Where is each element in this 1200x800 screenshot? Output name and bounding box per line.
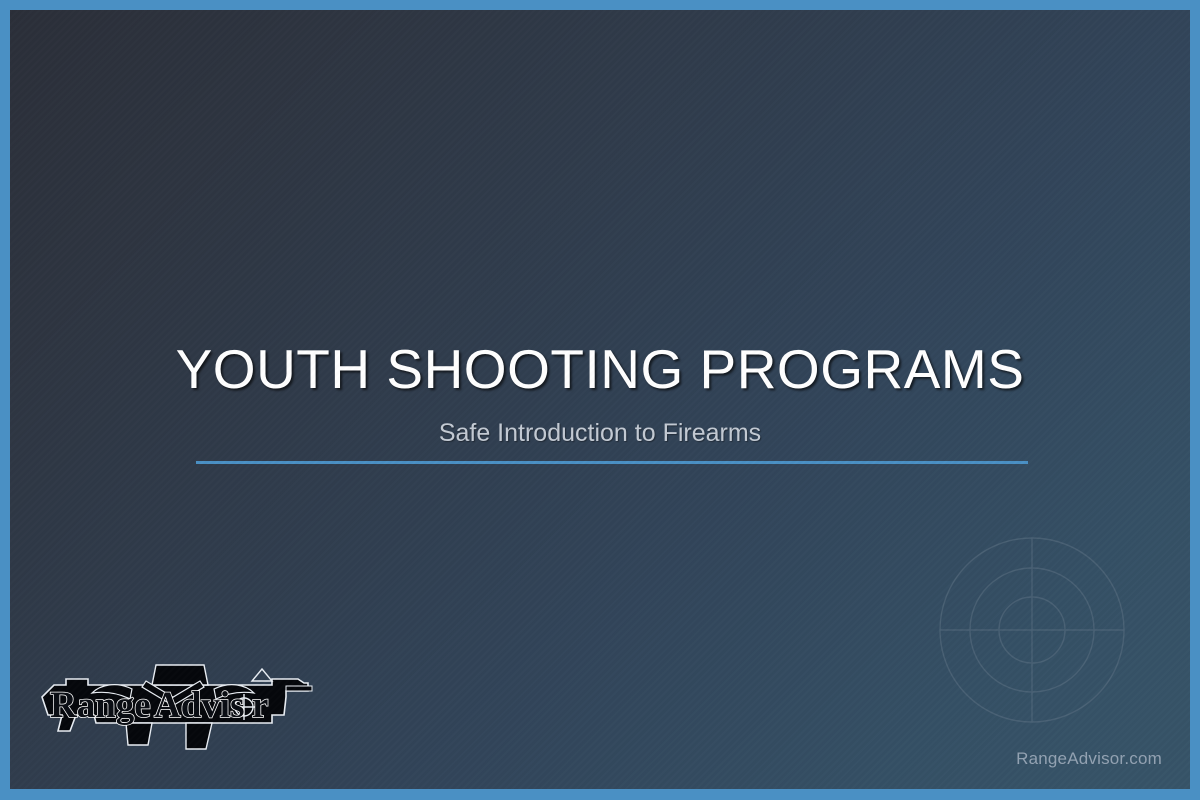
logo-wordmark-advisor: Advis — [154, 685, 244, 726]
slide-canvas: YOUTH SHOOTING PROGRAMS Safe Introductio… — [10, 10, 1190, 789]
footer-url: RangeAdvisor.com — [1016, 749, 1162, 769]
page-subtitle: Safe Introduction to Firearms — [10, 419, 1190, 448]
logo-wordmark-advisor-tail: r — [252, 685, 268, 726]
logo-wordmark-range: Range — [50, 685, 151, 726]
page-title: YOUTH SHOOTING PROGRAMS — [10, 340, 1190, 398]
accent-divider — [196, 461, 1028, 464]
brand-logo[interactable]: Range Advis r — [36, 659, 314, 751]
presentation-slide: YOUTH SHOOTING PROGRAMS Safe Introductio… — [0, 0, 1200, 800]
target-crosshair-icon — [930, 528, 1135, 733]
